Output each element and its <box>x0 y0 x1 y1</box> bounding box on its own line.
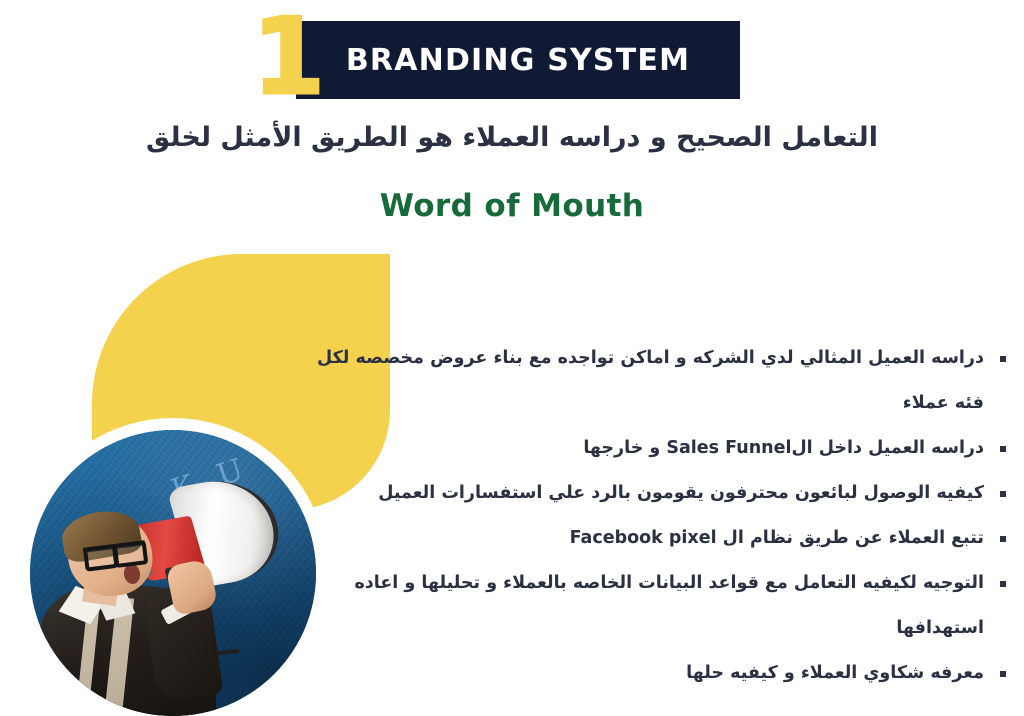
slide-canvas: BRANDING SYSTEM 1 التعامل الصحيح و دراسه… <box>0 0 1024 716</box>
section-number: 1 <box>252 8 312 106</box>
glasses-lens-right <box>113 540 149 568</box>
list-item: دراسه العميل داخل الSales Funnel و خارجه… <box>306 426 1006 471</box>
bullet-list: دراسه العميل المثالي لدي الشركه و اماكن … <box>306 336 1006 696</box>
list-item: دراسه العميل المثالي لدي الشركه و اماكن … <box>306 336 1006 426</box>
subtitle-arabic: التعامل الصحيح و دراسه العملاء هو الطريق… <box>0 118 1024 158</box>
list-item: تتبع العملاء عن طريق نظام ال Facebook pi… <box>306 516 1006 561</box>
list-item: كيفيه الوصول لبائعون محترفون يقومون بالر… <box>306 471 1006 516</box>
header-block: BRANDING SYSTEM 1 <box>0 0 1024 110</box>
man-figure <box>38 516 228 716</box>
photo-megaphone-man: K U T <box>30 430 316 716</box>
list-item: التوجيه لكيفيه التعامل مع قواعد البيانات… <box>306 561 1006 651</box>
list-item: معرفه شكاوي العملاء و كيفيه حلها <box>306 651 1006 696</box>
header-title: BRANDING SYSTEM <box>296 21 740 99</box>
headline-word-of-mouth: Word of Mouth <box>0 188 1024 224</box>
